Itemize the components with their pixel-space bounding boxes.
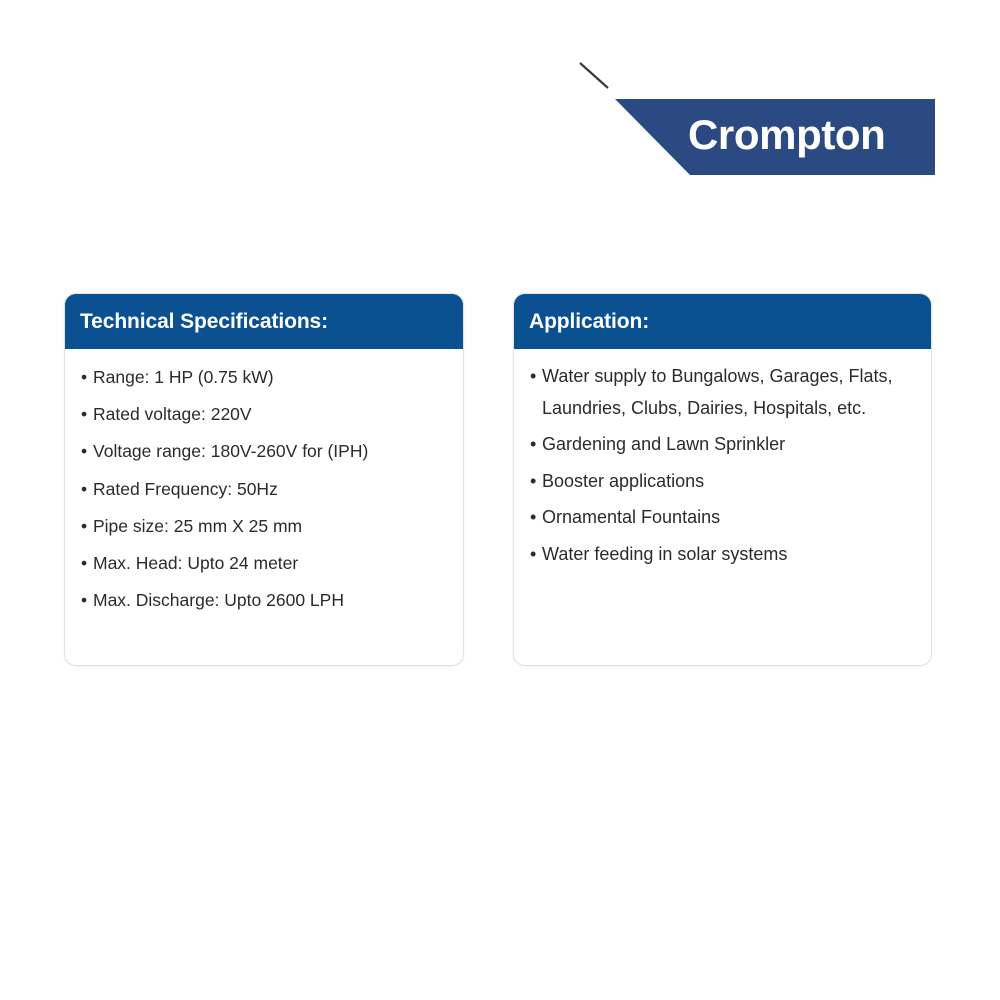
bullet-icon: • (81, 365, 87, 390)
card-body-application: • Water supply to Bungalows, Garages, Fl… (514, 349, 931, 585)
bullet-icon: • (81, 514, 87, 539)
bullet-icon: • (530, 539, 536, 571)
bullet-icon: • (530, 502, 536, 534)
list-item-label: Pipe size: 25 mm X 25 mm (93, 516, 302, 536)
list-item: • Ornamental Fountains (529, 502, 917, 534)
list-item: • Water feeding in solar systems (529, 539, 917, 571)
list-item: • Voltage range: 180V-260V for (IPH) (80, 439, 449, 464)
card-header-application: Application: (514, 294, 931, 349)
list-item-label: Max. Head: Upto 24 meter (93, 553, 298, 573)
bullet-icon: • (530, 361, 536, 393)
bullet-icon: • (81, 439, 87, 464)
list-item-label: Range: 1 HP (0.75 kW) (93, 367, 274, 387)
application-list: • Water supply to Bungalows, Garages, Fl… (529, 361, 917, 570)
bullet-icon: • (81, 588, 87, 613)
list-item: • Max. Head: Upto 24 meter (80, 551, 449, 576)
bullet-icon: • (81, 551, 87, 576)
list-item: • Water supply to Bungalows, Garages, Fl… (529, 361, 917, 424)
list-item-label: Booster applications (542, 471, 704, 491)
brand-name: Crompton (688, 107, 928, 163)
card-header-technical-specifications: Technical Specifications: (65, 294, 463, 349)
list-item-label: Rated voltage: 220V (93, 404, 252, 424)
list-item-label: Max. Discharge: Upto 2600 LPH (93, 590, 344, 610)
specifications-list: • Range: 1 HP (0.75 kW) • Rated voltage:… (80, 365, 449, 613)
card-title: Technical Specifications: (80, 310, 328, 334)
card-body-technical-specifications: • Range: 1 HP (0.75 kW) • Rated voltage:… (65, 349, 463, 623)
list-item: • Range: 1 HP (0.75 kW) (80, 365, 449, 390)
list-item-label: Water feeding in solar systems (542, 544, 787, 564)
card-title: Application: (529, 310, 649, 334)
list-item-label: Rated Frequency: 50Hz (93, 479, 278, 499)
bullet-icon: • (81, 477, 87, 502)
list-item: • Rated voltage: 220V (80, 402, 449, 427)
application-card: Application: • Water supply to Bungalows… (513, 293, 932, 666)
bullet-icon: • (530, 429, 536, 461)
technical-specifications-card: Technical Specifications: • Range: 1 HP … (64, 293, 464, 666)
bullet-icon: • (530, 466, 536, 498)
list-item: • Max. Discharge: Upto 2600 LPH (80, 588, 449, 613)
list-item-label: Water supply to Bungalows, Garages, Flat… (542, 366, 893, 418)
list-item: • Rated Frequency: 50Hz (80, 477, 449, 502)
list-item: • Gardening and Lawn Sprinkler (529, 429, 917, 461)
bullet-icon: • (81, 402, 87, 427)
brand-logo: Crompton (575, 55, 935, 180)
list-item-label: Gardening and Lawn Sprinkler (542, 434, 785, 454)
list-item-label: Voltage range: 180V-260V for (IPH) (93, 441, 368, 461)
list-item-label: Ornamental Fountains (542, 507, 720, 527)
list-item: • Booster applications (529, 466, 917, 498)
list-item: • Pipe size: 25 mm X 25 mm (80, 514, 449, 539)
